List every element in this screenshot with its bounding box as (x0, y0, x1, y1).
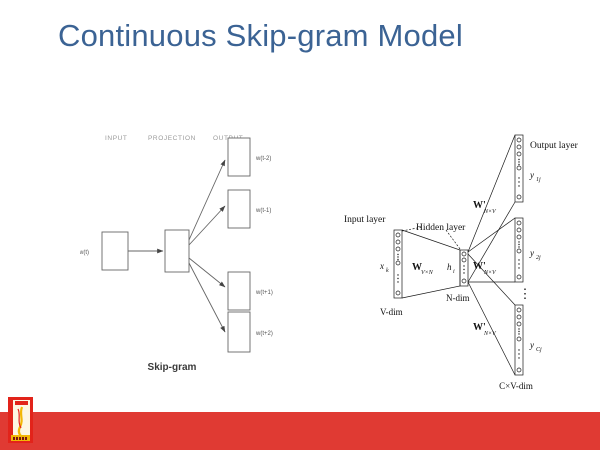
input-node-label: w(t) (80, 250, 89, 256)
edge-projection-to-output-3 (189, 263, 225, 332)
footer-bar (0, 412, 600, 450)
hidden-vector-subscript: i (453, 269, 455, 275)
page-title: Continuous Skip-gram Model (58, 18, 463, 54)
input-layer-label: Input layer (344, 215, 386, 225)
output-dim-label: C×V-dim (499, 381, 533, 391)
output-vector-label-1: y (529, 170, 534, 180)
output-vector-subscript-1: 1j (536, 177, 541, 183)
output-node-label-1: w(t-1) (255, 208, 271, 214)
output-node-label-0: w(t-2) (255, 156, 271, 162)
network-architecture-figure: Input layer Hidden layer Output layer x … (340, 130, 600, 400)
output-blocks-ellipsis: ⋮ (519, 286, 532, 301)
projection-node-box (165, 230, 189, 272)
output-vector-subscript-c: Cj (536, 347, 542, 353)
edge-projection-to-output-0 (189, 160, 225, 240)
weight-matrix-out-subscript-3: N×V (483, 331, 497, 337)
output-node-box-3 (228, 312, 250, 352)
input-vector-label: x (379, 261, 384, 271)
weight-matrix-in-subscript: V×N (421, 270, 434, 276)
slide-canvas: Continuous Skip-gram Model INPUT PROJECT… (0, 0, 600, 450)
organization-logo-icon (8, 397, 33, 443)
output-node-box-2 (228, 272, 250, 310)
skip-gram-schematic: INPUT PROJECTION OUTPUT w(t) w(t-2) w(t-… (80, 130, 300, 380)
output-layer-label: Output layer (530, 141, 579, 151)
output-vector-label-2: y (529, 248, 534, 258)
output-vector-subscript-2: 2j (536, 255, 541, 261)
input-node-box (102, 232, 128, 270)
organization-logo (8, 397, 33, 443)
output-node-box-0 (228, 138, 250, 176)
weight-matrix-out-subscript-1: N×V (483, 209, 497, 215)
weight-matrix-out-subscript-2: N×V (483, 270, 497, 276)
output-node-box-1 (228, 190, 250, 228)
edge-hidden-to-output-1-top (468, 135, 515, 252)
output-node-label-3: w(t+2) (255, 331, 273, 337)
network-architecture-svg: Input layer Hidden layer Output layer x … (340, 130, 600, 400)
output-vector-label-c: y (529, 340, 534, 350)
hidden-dim-label: N-dim (446, 293, 470, 303)
skip-gram-schematic-svg: INPUT PROJECTION OUTPUT w(t) w(t-2) w(t-… (80, 130, 300, 380)
column-header-input: INPUT (105, 135, 128, 142)
input-vector-subscript: k (386, 268, 389, 274)
output-node-label-2: w(t+1) (255, 290, 273, 296)
input-dim-label: V-dim (380, 307, 403, 317)
hidden-vector-label: h (447, 262, 452, 272)
figure-caption-skipgram: Skip-gram (148, 362, 197, 373)
hidden-layer-label: Hidden layer (416, 223, 466, 233)
edge-projection-to-output-1 (189, 206, 225, 245)
column-header-projection: PROJECTION (148, 135, 196, 142)
